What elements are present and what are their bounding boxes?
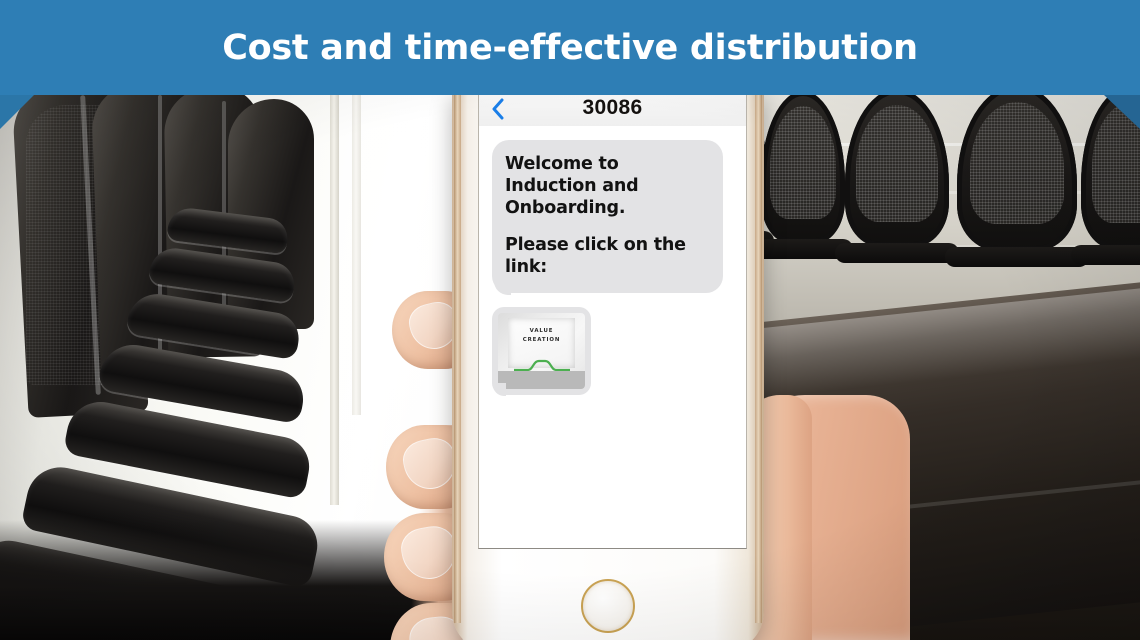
window-mullion bbox=[330, 95, 339, 505]
conversation-title: 30086 bbox=[479, 96, 746, 120]
smartphone: 30086 Welcome to Induction and Onboardin… bbox=[452, 95, 764, 640]
message-line-1: Welcome to Induction and Onboarding. bbox=[505, 153, 711, 219]
page-title: Cost and time-effective distribution bbox=[222, 31, 918, 66]
title-banner: Cost and time-effective distribution bbox=[0, 0, 1140, 95]
link-thumbnail-caption: VALUE CREATION bbox=[508, 327, 575, 344]
office-chair-mesh bbox=[970, 102, 1064, 225]
phone-side-rail-left bbox=[454, 95, 461, 623]
phone-screen: 30086 Welcome to Induction and Onboardin… bbox=[478, 95, 747, 549]
message-thread: Welcome to Induction and Onboarding. Ple… bbox=[479, 126, 746, 548]
link-thumbnail-footer bbox=[498, 371, 585, 389]
office-chair-arm bbox=[835, 243, 960, 263]
caption-line-1: VALUE bbox=[508, 327, 575, 335]
photo-background: 30086 Welcome to Induction and Onboardin… bbox=[0, 95, 1140, 640]
link-thumbnail-slide: VALUE CREATION bbox=[508, 318, 575, 368]
office-chair bbox=[957, 95, 1077, 251]
messages-navbar: 30086 bbox=[479, 95, 746, 127]
office-chair bbox=[761, 95, 845, 243]
phone-side-rail-right bbox=[755, 95, 762, 623]
office-chair bbox=[845, 95, 949, 247]
slide: Cost and time-effective distribution bbox=[0, 0, 1140, 640]
window-mullion bbox=[352, 95, 361, 415]
office-chair-mesh bbox=[856, 105, 937, 222]
message-bubble-text[interactable]: Welcome to Induction and Onboarding. Ple… bbox=[492, 140, 723, 293]
green-curve-icon bbox=[514, 358, 570, 372]
office-chair-arm bbox=[945, 247, 1089, 267]
home-button[interactable] bbox=[581, 579, 635, 633]
caption-line-2: CREATION bbox=[508, 336, 575, 344]
office-chair-arm bbox=[1071, 245, 1140, 265]
message-line-2: Please click on the link: bbox=[505, 234, 711, 278]
message-bubble-link-preview[interactable]: VALUE CREATION bbox=[492, 307, 591, 395]
link-thumbnail: VALUE CREATION bbox=[498, 313, 585, 389]
office-chair-mesh bbox=[770, 106, 836, 218]
